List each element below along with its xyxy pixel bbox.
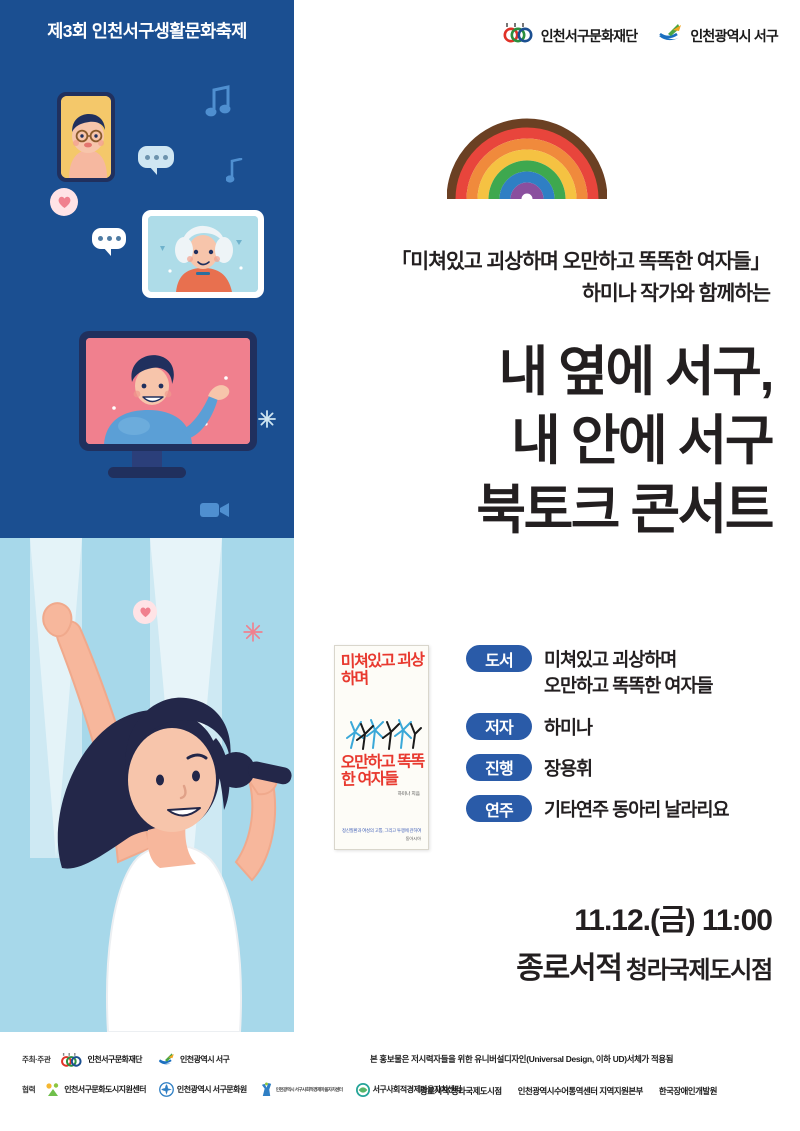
footer-logo-seogu-cultural-center: 인천광역시 서구문화원 <box>159 1082 247 1097</box>
book-cover-title-top: 미쳐있고 괴상하며 <box>341 652 425 689</box>
footer-label-cooperation: 협력 <box>22 1084 35 1095</box>
elder-woman-avatar <box>148 216 258 292</box>
book-cover-author: 하미나 지음 <box>398 791 420 797</box>
book-cover-figures <box>343 708 423 750</box>
bubble-dot <box>154 155 159 160</box>
festival-banner: 제3회 인천서구생활문화축제 <box>0 0 294 60</box>
video-camera-icon <box>200 500 230 520</box>
footer-partner-sign-language-branch: 인천광역시수어통역센터 지역지원본부 <box>518 1085 643 1097</box>
footer-logo-label-seogu-cultural-center: 인천광역시 서구문화원 <box>177 1084 247 1095</box>
monitor-screen <box>86 338 250 444</box>
title-line-2: 내 안에 서구 <box>272 407 772 476</box>
festival-banner-text: 제3회 인천서구생활문화축제 <box>47 18 246 43</box>
footer-universal-design-note: 본 홍보물은 저시력자들을 위한 유니버설디자인(Universal Desig… <box>370 1053 673 1065</box>
singer-figure <box>0 562 294 1032</box>
event-venue: 종로서적청라국제도시점 <box>302 943 772 987</box>
info-row-host: 진행 장용휘 <box>466 754 796 782</box>
footer: 주최·주관 인천서구문화재단 인천 <box>0 1038 800 1131</box>
title-line-1: 내 옆에 서구, <box>272 338 772 407</box>
monitor-base <box>108 467 186 478</box>
phone-device-illustration <box>57 92 115 182</box>
info-badge-book: 도서 <box>466 645 532 672</box>
illustration-video-call-panel <box>0 60 294 538</box>
logo-label-seogu-office: 인천광역시 서구 <box>690 26 778 46</box>
footer-logo-culture-foundation: 인천서구문화재단 <box>60 1053 141 1067</box>
venue-sub: 청라국제도시점 <box>626 957 772 984</box>
waving-man-avatar <box>86 338 250 444</box>
monitor-device-illustration <box>79 331 257 451</box>
logo-incheon-seogu-culture-foundation: 인천서구문화재단 <box>502 23 638 48</box>
header-logo-group: 인천서구문화재단 인천광역시 서구 <box>502 22 778 49</box>
info-row-author: 저자 하미나 <box>466 713 796 741</box>
footer-logo-seogu-office: 인천광역시 서구 <box>157 1052 229 1067</box>
info-value-book-line2: 오만하고 똑똑한 여자들 <box>544 675 712 696</box>
info-value-host: 장용휘 <box>544 754 592 782</box>
eyebrow-text: 「미쳐있고 괴상하며 오만하고 똑똑한 여자들」 하미나 작가와 함께하는 <box>300 246 770 310</box>
footer-partners-row: 종로서적 청라국제도시점 인천광역시수어통역센터 지역지원본부 한국장애인개발원 <box>420 1085 717 1097</box>
sign-language-center-icon <box>260 1082 273 1097</box>
man-with-glasses-avatar <box>61 96 111 178</box>
rainbow-illustration <box>447 103 607 208</box>
illustration-singer-panel <box>0 538 294 1032</box>
poster-root: 제3회 인천서구생활문화축제 인천서구문화재단 <box>0 0 800 1131</box>
info-row-book: 도서 미쳐있고 괴상하며 오만하고 똑똑한 여자들 <box>466 645 796 700</box>
footer-organizers-row: 주최·주관 인천서구문화재단 인천 <box>22 1052 229 1067</box>
event-info-list: 도서 미쳐있고 괴상하며 오만하고 똑똑한 여자들 저자 하미나 진행 장용휘 … <box>466 645 796 836</box>
seogu-swoosh-icon <box>657 22 685 49</box>
footer-partner-jongno-books: 종로서적 청라국제도시점 <box>420 1085 502 1097</box>
bubble-dot <box>107 236 112 241</box>
info-value-book: 미쳐있고 괴상하며 오만하고 똑똑한 여자들 <box>544 645 712 700</box>
venue-main: 종로서적 <box>516 952 622 985</box>
tablet-device-illustration <box>142 210 264 298</box>
three-rings-icon <box>502 23 536 48</box>
footer-partner-kodad: 한국장애인개발원 <box>659 1085 717 1097</box>
eyebrow-line-2: 하미나 작가와 함께하는 <box>300 278 770 310</box>
event-datetime: 11.12.(금) 11:00 <box>302 895 772 939</box>
info-value-book-line1: 미쳐있고 괴상하며 <box>544 649 676 670</box>
book-cover-image: 미쳐있고 괴상하며 오만하고 똑똑한 여자들 하미나 지음 정신질환과 여성의 … <box>334 645 429 850</box>
culture-city-center-icon <box>45 1082 61 1097</box>
bubble-dot <box>163 155 168 160</box>
info-badge-performance: 연주 <box>466 795 532 822</box>
book-cover-subtitle: 정신질환과 여성의 고통, 그리고 투쟁에 관하여 <box>342 828 421 835</box>
footer-logo-label-culture-city-center: 인천서구문화도시지원센터 <box>64 1084 146 1095</box>
seogu-swoosh-icon <box>157 1052 177 1067</box>
bubble-dot <box>145 155 150 160</box>
social-economy-center-icon <box>356 1083 370 1097</box>
heart-icon <box>57 195 72 209</box>
info-value-author: 하미나 <box>544 713 592 741</box>
info-value-performance: 기타연주 동아리 날라리요 <box>544 795 729 823</box>
info-row-performance: 연주 기타연주 동아리 날라리요 <box>466 795 796 823</box>
footer-logo-label-seogu-office: 인천광역시 서구 <box>180 1054 229 1065</box>
book-cover-title-bottom: 오만하고 똑똑한 여자들 <box>341 753 425 789</box>
footer-label-organizer: 주최·주관 <box>22 1054 50 1065</box>
footer-logo-sign-language-center: 인천광역시 서구사회적경제마을자치센터 <box>260 1082 343 1097</box>
logo-label-culture-foundation: 인천서구문화재단 <box>541 26 638 46</box>
music-note-icon <box>226 158 244 184</box>
page-title: 내 옆에 서구, 내 안에 서구 북토크 콘서트 <box>272 338 772 545</box>
bubble-dot <box>116 236 121 241</box>
heart-badge <box>50 188 78 216</box>
tablet-screen <box>148 216 258 292</box>
seogu-cultural-center-icon <box>159 1082 174 1097</box>
music-note-icon <box>205 85 231 119</box>
three-rings-icon <box>60 1053 84 1067</box>
chat-bubble-right <box>138 146 174 168</box>
phone-screen <box>61 96 111 178</box>
footer-logo-label-culture-foundation: 인천서구문화재단 <box>87 1054 141 1065</box>
footer-logo-culture-city-center: 인천서구문화도시지원센터 <box>45 1082 146 1097</box>
footer-logo-label-sign-language-center: 인천광역시 서구사회적경제마을자치센터 <box>276 1087 343 1093</box>
logo-incheon-seogu-office: 인천광역시 서구 <box>657 22 778 49</box>
chat-bubble-left <box>92 228 126 249</box>
info-badge-host: 진행 <box>466 754 532 781</box>
info-badge-author: 저자 <box>466 713 532 740</box>
book-cover-publisher: 동아시아 <box>406 836 421 842</box>
bubble-dot <box>98 236 103 241</box>
title-line-3: 북토크 콘서트 <box>272 476 772 545</box>
footer-cooperation-row: 협력 인천서구문화도시지원센터 인천광역시 서구문화원 <box>22 1082 461 1097</box>
eyebrow-line-1: 「미쳐있고 괴상하며 오만하고 똑똑한 여자들」 <box>300 246 770 278</box>
